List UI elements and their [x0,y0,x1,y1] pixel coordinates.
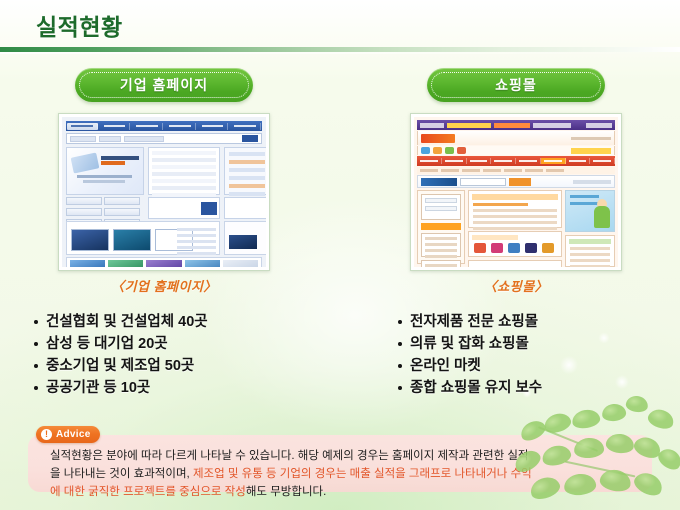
mock-hero-banner [66,147,144,195]
advice-badge-label: Advice [56,429,91,440]
bullet-list-shopping-mall: 전자제품 전문 쇼핑몰 의류 및 잡화 쇼핑몰 온라인 마켓 종합 쇼핑몰 유지… [396,311,666,399]
mock-search-bar [66,133,262,144]
mock-search-row [417,175,615,188]
mock-sidebar-banner [224,221,266,255]
list-item: 공공기관 등 10곳 [32,377,314,399]
mock-left-column [417,190,465,264]
exclamation-icon: ! [41,429,52,440]
mock-global-nav [66,121,262,131]
mock-content-cards [66,221,220,255]
mock-sub-nav [417,167,615,174]
mock-sidebar-panel-2 [224,197,266,219]
mock-sidebar-panel [224,147,266,195]
list-item: 삼성 등 대기업 20곳 [32,333,314,355]
advice-text-plain: 해도 무방합니다. [246,486,326,498]
caption-corporate-homepage: 〈기업 홈페이지〉 [14,276,314,295]
advice-line-1: 실적현황은 분야에 따라 다르게 나타날 수 있습니다. 해당 예제의 경우는 … [50,447,638,465]
advice-text-highlight: 에 대한 굵직한 프로젝트를 중심으로 작성 [50,486,246,498]
pill-button-label: 기업 홈페이지 [120,75,208,95]
bullet-list-corporate-homepage: 건설협회 및 건설업체 40곳 삼성 등 대기업 20곳 중소기업 및 제조업 … [32,311,314,399]
shopping-mall-screenshot [414,117,618,267]
mock-notice-panel [148,147,220,195]
mock-quick-buttons [66,197,144,219]
mock-partner-strip [66,257,262,267]
mock-quick-search [148,197,220,219]
advice-text-highlight: 제조업 및 유통 등 기업의 경우는 매출 실적을 그래프로 나타내거나 수익 [193,468,532,480]
list-item: 중소기업 및 제조업 50곳 [32,355,314,377]
slide-canvas: 실적현황 기업 홈페이지 [0,0,680,510]
list-item: 의류 및 잡화 쇼핑몰 [396,333,666,355]
column-corporate-homepage: 기업 홈페이지 [14,68,314,399]
advice-box: ! Advice 실적현황은 분야에 따라 다르게 나타날 수 있습니다. 해당… [28,426,652,492]
page-title: 실적현황 [36,8,123,42]
mock-category-icons [417,146,615,155]
advice-badge: ! Advice [36,426,100,443]
advice-body: 실적현황은 분야에 따라 다르게 나타날 수 있습니다. 해당 예제의 경우는 … [28,435,652,492]
pill-button-label: 쇼핑몰 [495,75,537,95]
advice-text-plain: 실적현황은 분야에 따라 다르게 나타날 수 있습니다. 해당 예제의 경우는 … [50,450,529,462]
caption-shopping-mall: 〈쇼핑몰〉 [366,276,666,295]
corporate-homepage-screenshot [62,117,266,267]
mock-right-column [565,190,615,264]
pill-button-corporate-homepage[interactable]: 기업 홈페이지 [75,68,253,102]
mock-main-nav [417,156,615,166]
pill-button-shopping-mall[interactable]: 쇼핑몰 [427,68,605,102]
header-divider-highlight [0,52,680,54]
mock-top-promo-bar [417,120,615,130]
advice-line-2: 을 나타내는 것이 효과적이며, 제조업 및 유통 등 기업의 경우는 매출 실… [50,465,638,483]
column-shopping-mall: 쇼핑몰 [366,68,666,399]
list-item: 종합 쇼핑몰 유지 보수 [396,377,666,399]
list-item: 건설협회 및 건설업체 40곳 [32,311,314,333]
mock-logo-bar [417,131,615,145]
list-item: 온라인 마켓 [396,355,666,377]
thumbnail-frame-shopping-mall[interactable] [410,113,622,271]
advice-text-plain: 을 나타내는 것이 효과적이며, [50,468,193,480]
mock-center-column [468,190,562,264]
thumbnail-frame-corporate-homepage[interactable] [58,113,270,271]
advice-line-3: 에 대한 굵직한 프로젝트를 중심으로 작성해도 무방합니다. [50,483,638,501]
list-item: 전자제품 전문 쇼핑몰 [396,311,666,333]
